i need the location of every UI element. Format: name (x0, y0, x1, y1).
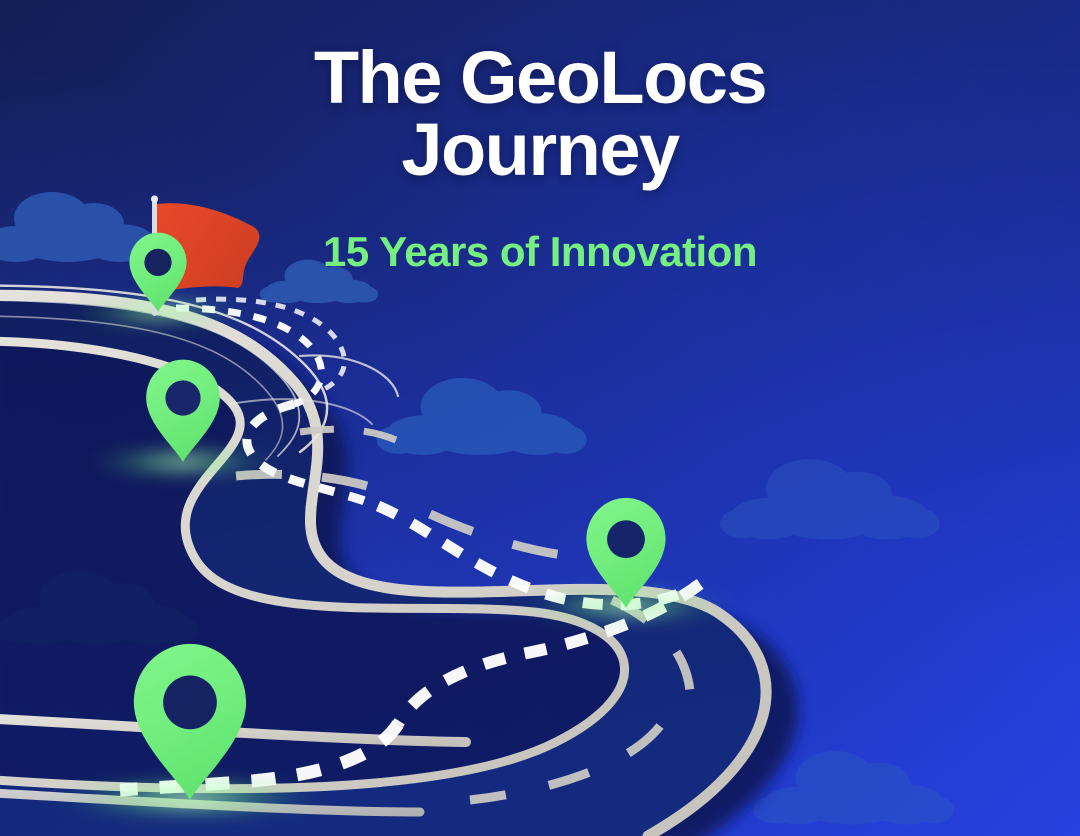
pin-hole (165, 380, 200, 415)
pin-hole (607, 520, 645, 558)
pin-hole (144, 249, 171, 276)
scene-illustration (0, 0, 1080, 836)
flag-pole-top-knob (151, 195, 158, 202)
pin-hole (163, 676, 217, 730)
poster-canvas: The GeoLocs Journey 15 Years of Innovati… (0, 0, 1080, 836)
